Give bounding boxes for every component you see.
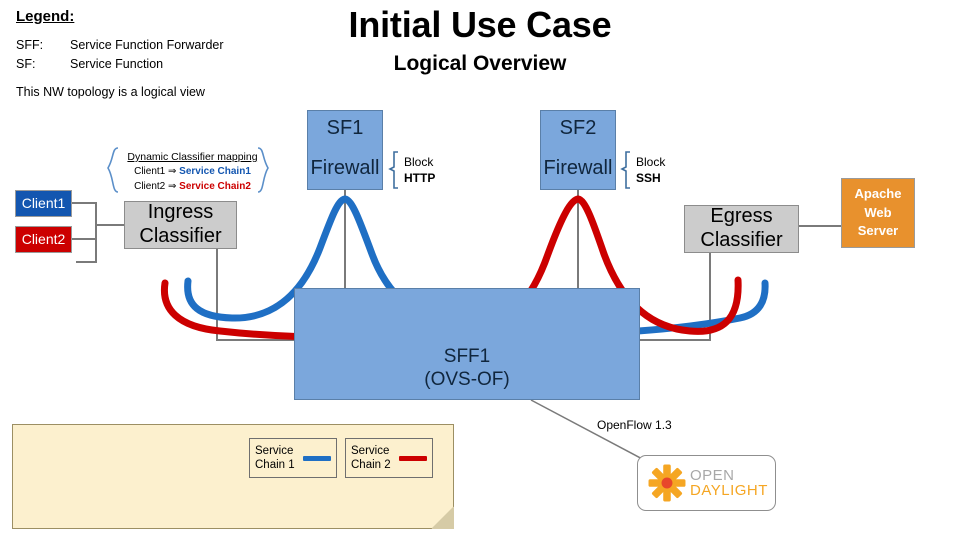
mapping-row-2-right: Service Chain2: [179, 181, 251, 192]
mapping-header: Dynamic Classifier mapping: [115, 150, 270, 165]
apache-label-line1: Apache: [855, 185, 902, 204]
legend-abbr-sff-key: SFF:: [16, 38, 70, 52]
opendaylight-sunburst-icon: [646, 462, 688, 504]
ingress-label-line1: Ingress: [148, 201, 214, 225]
block-ssh-line1: Block: [636, 154, 665, 170]
legend-abbr-sff: SFF:Service Function Forwarder: [16, 38, 224, 52]
sf2-label-line2: Firewall: [544, 157, 613, 181]
node-client2[interactable]: Client2: [15, 226, 72, 253]
bracket-block-http: [390, 152, 398, 188]
node-egress-classifier[interactable]: Egress Classifier: [684, 205, 799, 253]
opendaylight-word-daylight: DAYLIGHT: [690, 483, 768, 498]
egress-label-line1: Egress: [710, 205, 772, 229]
annotation-block-http: Block HTTP: [404, 154, 435, 186]
mapping-row-1: Client1 ⇒ Service Chain1: [115, 165, 270, 180]
node-client1[interactable]: Client1: [15, 190, 72, 217]
apache-label-line3: Server: [858, 222, 898, 241]
legend-abbr-sff-value: Service Function Forwarder: [70, 38, 224, 52]
node-ingress-classifier[interactable]: Ingress Classifier: [124, 201, 237, 249]
mapping-row-2-left: Client2 ⇒: [134, 181, 179, 192]
node-sf2[interactable]: SF2 Firewall: [540, 110, 616, 190]
legend-abbr-sf: SF:Service Function: [16, 57, 163, 71]
sff1-label-line2: (OVS-OF): [424, 369, 510, 391]
legend-swatch-chain2-line-icon: [399, 456, 427, 461]
opendaylight-word-open: OPEN: [690, 468, 768, 483]
block-http-line2: HTTP: [404, 170, 435, 186]
diagram-canvas: Initial Use Case Logical Overview Client…: [0, 0, 960, 540]
openflow-version-label: OpenFlow 1.3: [597, 418, 672, 432]
bracket-block-ssh: [622, 152, 630, 188]
legend-swatch-chain1-line-icon: [303, 456, 331, 461]
ingress-label-line2: Classifier: [139, 225, 221, 249]
block-ssh-line2: SSH: [636, 170, 665, 186]
mapping-row-1-right: Service Chain1: [179, 166, 251, 177]
client1-label: Client1: [22, 195, 66, 212]
client2-label: Client2: [22, 231, 66, 248]
legend-abbr-sf-key: SF:: [16, 57, 70, 71]
legend-abbr-sf-value: Service Function: [70, 57, 163, 71]
legend-fold-corner: [431, 506, 454, 529]
sf1-label-line1: SF1: [327, 117, 364, 141]
wire-ingress-to-sff1: [217, 249, 294, 340]
opendaylight-wordmark: OPEN DAYLIGHT: [690, 468, 768, 498]
annotation-block-ssh: Block SSH: [636, 154, 665, 186]
sf2-label-line1: SF2: [560, 117, 597, 141]
wire-egress-to-sff1: [640, 253, 710, 340]
legend-swatch-chain1-line2: Chain 1: [255, 458, 301, 472]
mapping-row-1-left: Client1 ⇒: [134, 166, 179, 177]
legend-swatch-chain2: Service Chain 2: [345, 438, 433, 478]
sf1-label-line2: Firewall: [311, 157, 380, 181]
legend-swatch-chain1: Service Chain 1: [249, 438, 337, 478]
legend-swatch-chain2-line2: Chain 2: [351, 458, 397, 472]
legend-swatch-chain1-line1: Service: [255, 444, 301, 458]
legend-swatch-chain2-text: Service Chain 2: [346, 444, 397, 473]
node-apache-web-server[interactable]: Apache Web Server: [841, 178, 915, 248]
mapping-row-2: Client2 ⇒ Service Chain2: [115, 180, 270, 195]
legend-title: Legend:: [16, 8, 74, 25]
opendaylight-controller-logo[interactable]: OPEN DAYLIGHT: [637, 455, 776, 511]
wire-clients-to-ingress: [72, 203, 124, 239]
legend-swatch-chain1-text: Service Chain 1: [250, 444, 301, 473]
node-sff1[interactable]: SFF1 (OVS-OF): [294, 288, 640, 400]
node-sf1[interactable]: SF1 Firewall: [307, 110, 383, 190]
block-http-line1: Block: [404, 154, 435, 170]
legend-note: This NW topology is a logical view: [16, 85, 205, 99]
legend-swatch-chain2-line1: Service: [351, 444, 397, 458]
wire-client-bracket: [76, 203, 96, 262]
dynamic-classifier-mapping: Dynamic Classifier mapping Client1 ⇒ Ser…: [115, 150, 270, 194]
egress-label-line2: Classifier: [700, 229, 782, 253]
sff1-label-line1: SFF1: [444, 346, 490, 368]
apache-label-line2: Web: [864, 204, 891, 223]
